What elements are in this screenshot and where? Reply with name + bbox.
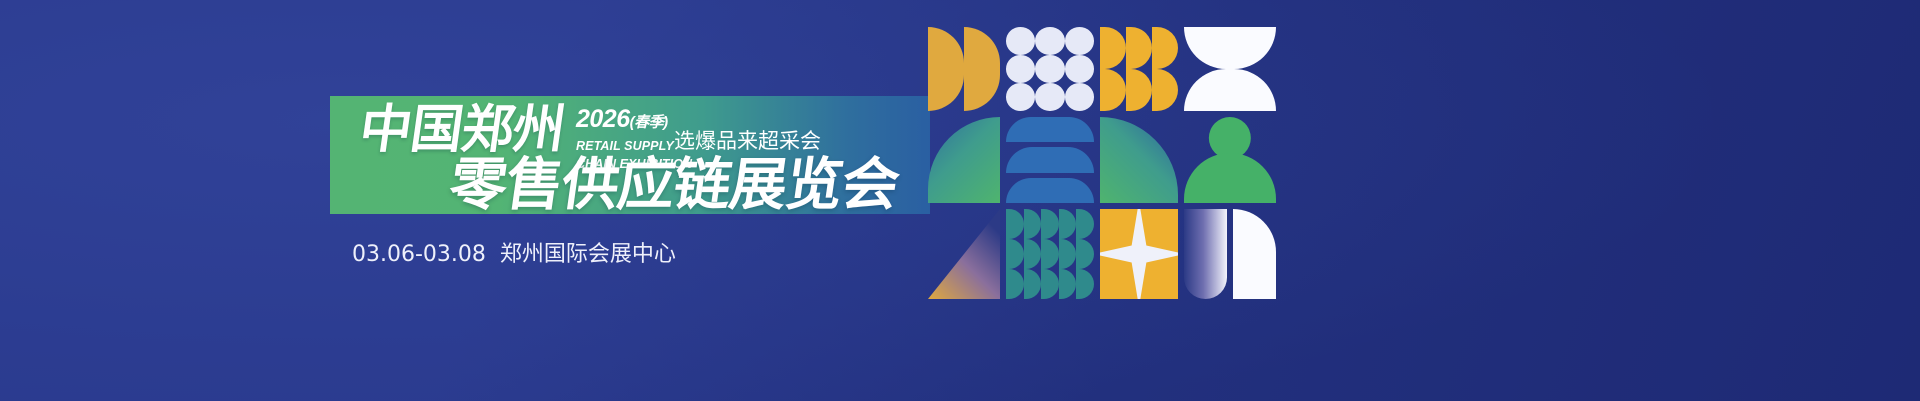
season-label: (春季) (630, 114, 668, 131)
dot-grid-white-icon (1006, 27, 1094, 111)
date-venue-line: 03.06-03.08郑州国际会展中心 (352, 242, 676, 268)
hourglass-white-icon (1184, 27, 1276, 111)
decorative-shape-grid (928, 27, 1270, 302)
pill-gradient-white-icon (1184, 209, 1276, 299)
quarter-circle-gradient-teal-icon (1100, 117, 1178, 203)
double-half-circle-gold-icon (928, 27, 1000, 111)
quarter-circle-gradient-green-icon (928, 117, 1000, 203)
title-lockup: 中国郑州 2026(春季) RETAIL SUPPLY CHAIN EXHIBI… (330, 96, 930, 214)
half-circle-grid-gold-icon (1100, 27, 1178, 111)
four-point-star-gold-icon (1100, 209, 1178, 299)
exhibition-banner: 中国郑州 2026(春季) RETAIL SUPPLY CHAIN EXHIBI… (0, 0, 1920, 401)
event-venue: 郑州国际会展中心 (500, 242, 676, 267)
year-number: 2026 (576, 105, 630, 133)
title-line-1: 中国郑州 (356, 102, 568, 158)
person-silhouette-green-icon (1184, 117, 1276, 203)
scale-pattern-teal-icon (1006, 209, 1094, 299)
title-line-2: 零售供应链展览会 (446, 154, 903, 216)
event-dates: 03.06-03.08 (352, 242, 486, 267)
stacked-arches-blue-icon (1006, 117, 1094, 203)
tagline: 选爆品来超采会 (674, 129, 821, 153)
triangle-gradient-gold-purple-icon (928, 209, 1000, 299)
